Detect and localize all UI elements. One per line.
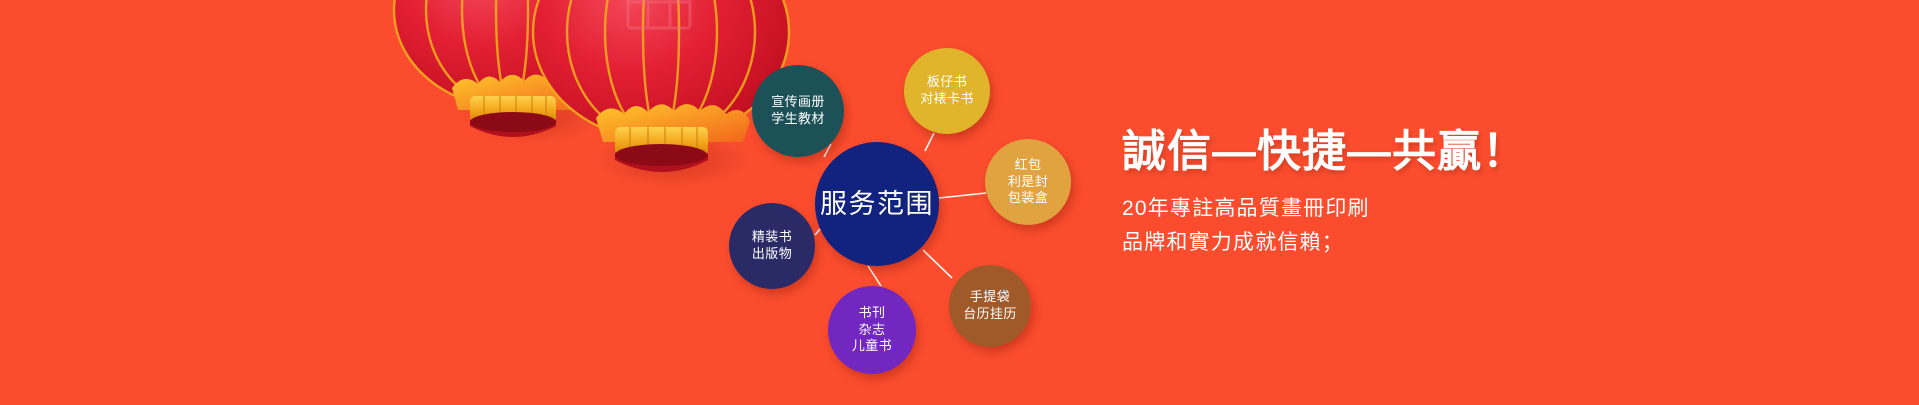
connector-bags-calendars — [923, 250, 952, 278]
slogan-subline-2: 品牌和實力成就信賴； — [1122, 226, 1742, 260]
node-service-scope[interactable]: 服务范围 — [815, 142, 939, 266]
node-magazines-line-3: 儿童书 — [852, 338, 892, 355]
slogan-headline: 誠信—快捷—共贏！ — [1122, 128, 1742, 176]
slogan-block: 誠信—快捷—共贏！ 20年專註高品質畫冊印刷 品牌和實力成就信賴； — [1122, 128, 1742, 260]
connector-magazines — [868, 266, 881, 286]
node-magazines-line-1: 书刊 — [859, 305, 886, 322]
node-red-packets-line-2: 利是封 — [1008, 174, 1048, 191]
node-red-packets-line-1: 红包 — [1015, 157, 1042, 174]
node-bags-calendars-line-1: 手提袋 — [970, 289, 1010, 306]
node-red-packets-line-3: 包装盒 — [1008, 190, 1048, 207]
node-hardcover-line-1: 精装书 — [752, 229, 792, 246]
node-bags-calendars-line-2: 台历挂历 — [963, 306, 1017, 323]
node-hardcover[interactable]: 精装书 出版物 — [729, 203, 815, 289]
node-bags-calendars[interactable]: 手提袋 台历挂历 — [949, 265, 1031, 347]
node-service-scope-label: 服务范围 — [820, 187, 934, 222]
node-promo-books[interactable]: 宣传画册 学生教材 — [752, 65, 844, 157]
node-magazines[interactable]: 书刊 杂志 儿童书 — [828, 286, 916, 374]
node-board-books-line-1: 板仔书 — [927, 74, 967, 91]
connector-hardcover — [815, 229, 820, 235]
slogan-subline-1: 20年專註高品質畫冊印刷 — [1122, 192, 1742, 226]
node-promo-books-line-1: 宣传画册 — [771, 94, 825, 111]
node-board-books-line-2: 对裱卡书 — [920, 91, 974, 108]
node-promo-books-line-2: 学生教材 — [771, 111, 825, 128]
node-red-packets[interactable]: 红包 利是封 包装盒 — [985, 139, 1071, 225]
node-magazines-line-2: 杂志 — [859, 322, 886, 339]
connector-red-packets — [939, 193, 986, 198]
node-hardcover-line-2: 出版物 — [752, 246, 792, 263]
connector-board-books — [925, 133, 934, 151]
node-board-books[interactable]: 板仔书 对裱卡书 — [904, 48, 990, 134]
service-scope-banner: 服务范围 宣传画册 学生教材 板仔书 对裱卡书 红包 利是封 包装盒 手提袋 台… — [0, 0, 1919, 405]
